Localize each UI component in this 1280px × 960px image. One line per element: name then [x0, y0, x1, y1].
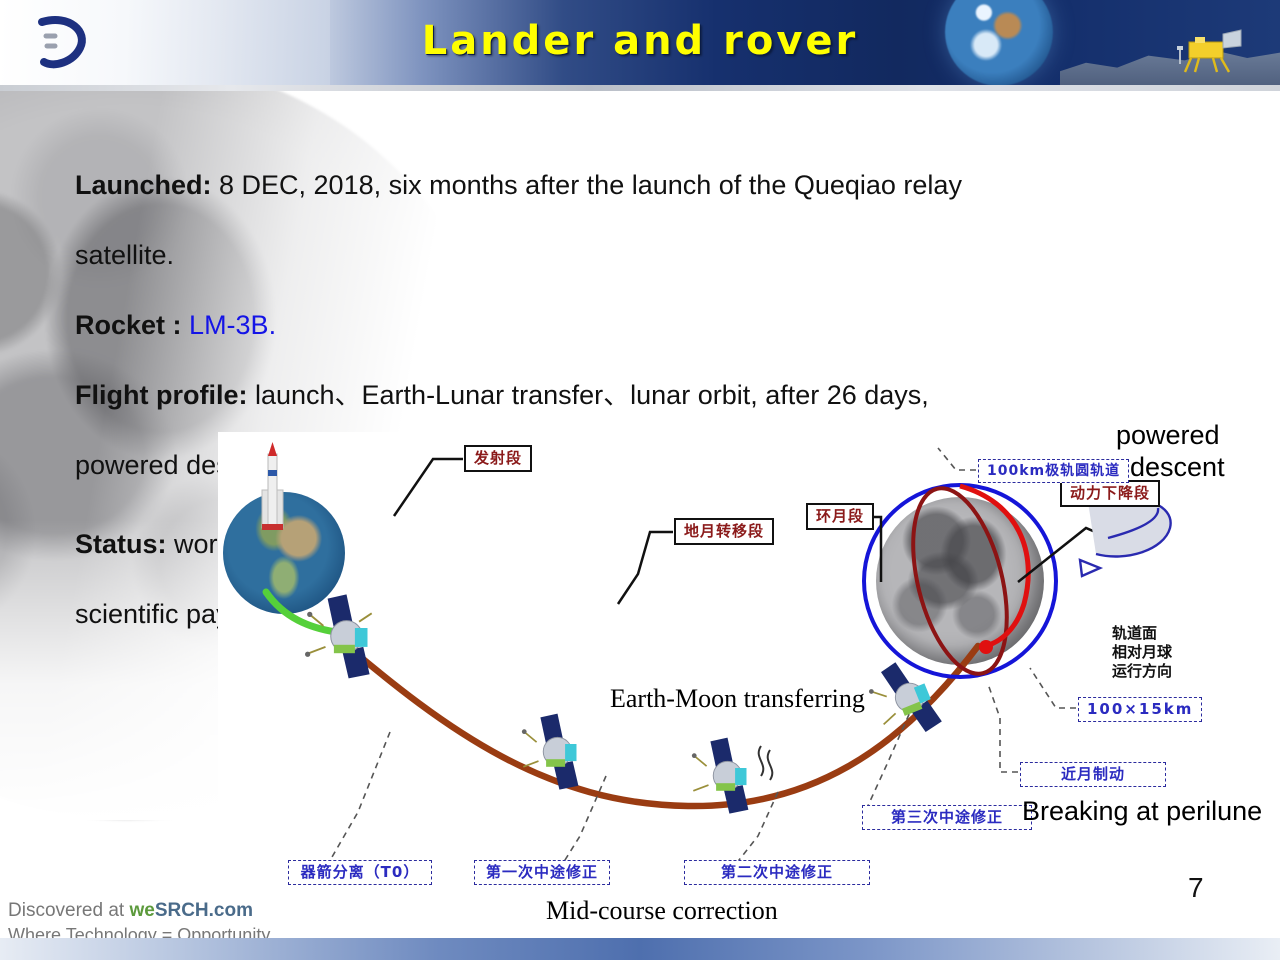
value-flight-profile: launch、Earth-Lunar transfer、lunar orbit,… — [247, 380, 928, 410]
value-launched: 8 DEC, 2018, six months after the launch… — [212, 170, 962, 200]
watermark-line-1: Discovered at weSRCH.com — [8, 898, 270, 923]
launch-rocket-icon — [262, 442, 283, 530]
watermark-srch: SRCH.com — [155, 900, 253, 921]
label-earth-moon-transferring-en: Earth-Moon transferring — [610, 684, 865, 714]
spacecraft-icon-1 — [305, 594, 372, 678]
page-number: 7 — [1188, 872, 1204, 904]
value-satellite: satellite. — [75, 240, 174, 270]
label-powered-descent-en-line1: powered — [1116, 420, 1220, 451]
label-powered-descent-phase: 动力下降段 — [1060, 480, 1160, 507]
leader-100x15 — [1030, 668, 1076, 708]
value-rocket: LM-3B. — [189, 310, 276, 340]
label-correction-2: 第二次中途修正 — [684, 860, 870, 885]
label-correction-3: 第三次中途修正 — [862, 805, 1032, 830]
orbit-plane-dir-line3: 运行方向 — [1112, 662, 1172, 681]
label-powered-descent-en-line2: descent — [1130, 452, 1225, 483]
transfer-trajectory-path — [338, 638, 978, 806]
text-line-flight-profile: Flight profile: launch、Earth-Lunar trans… — [75, 360, 1215, 430]
leader-perilune-braking — [988, 684, 1018, 772]
text-line-satellite: satellite. — [75, 220, 1215, 290]
leader-separation — [328, 732, 390, 864]
label-polar-circular-orbit: 100km极轨圆轨道 — [978, 459, 1129, 483]
orbit-plane-rotation-arrow — [1080, 498, 1171, 576]
label-breaking-at-perilune-en: Breaking at perilune — [1022, 796, 1262, 827]
label-separation-t0: 器箭分离（T0） — [288, 860, 432, 885]
label-flight-profile: Flight profile: — [75, 380, 247, 410]
label-earth-moon-transfer-phase: 地月转移段 — [674, 518, 774, 545]
label-rocket: Rocket : — [75, 310, 182, 340]
powered-descent-arc — [960, 486, 1028, 646]
slide-canvas: Lander and rover Launched: 8 DEC, 2018, … — [0, 0, 1280, 960]
leader-transfer-phase — [618, 532, 673, 604]
slide-header: Lander and rover — [0, 0, 1280, 85]
mission-profile-diagram: 发射段 地月转移段 环月段 动力下降段 100km极轨圆轨道 100×15km … — [218, 432, 1280, 924]
label-lunar-orbit-phase: 环月段 — [806, 503, 874, 530]
page-title: Lander and rover — [0, 18, 1280, 64]
footer-bar — [0, 938, 1280, 960]
orbit-plane-dir-line2: 相对月球 — [1112, 643, 1172, 662]
launch-track-path — [266, 592, 336, 632]
label-mid-course-correction-en: Mid-course correction — [546, 896, 778, 926]
label-correction-1: 第一次中途修正 — [474, 860, 610, 885]
label-status: Status: — [75, 529, 167, 559]
landing-point-marker — [979, 640, 993, 654]
watermark-we: we — [129, 900, 154, 921]
header-divider — [0, 85, 1280, 91]
label-launched: Launched: — [75, 170, 212, 200]
label-orbit-100x15: 100×15km — [1078, 697, 1202, 722]
label-orbit-plane-direction: 轨道面 相对月球 运行方向 — [1112, 624, 1172, 681]
trajectory-break-marks — [759, 746, 773, 780]
leader-polar-orbit — [938, 448, 976, 470]
label-perilune-braking: 近月制动 — [1020, 762, 1166, 787]
label-launch-phase: 发射段 — [464, 445, 532, 472]
leader-launch-phase — [394, 459, 463, 516]
watermark-prefix: Discovered at — [8, 900, 129, 921]
text-line-rocket: Rocket : LM-3B. — [75, 290, 1215, 360]
text-line-launched: Launched: 8 DEC, 2018, six months after … — [75, 150, 1215, 220]
orbit-plane-dir-line1: 轨道面 — [1112, 624, 1172, 643]
